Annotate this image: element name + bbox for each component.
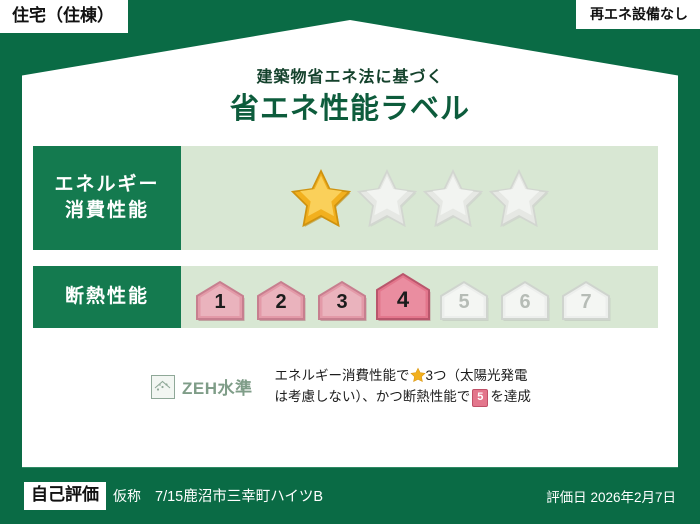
insulation-level-7: 7 xyxy=(557,280,615,322)
label-subtitle: 建築物省エネ法に基づく xyxy=(0,63,700,87)
insulation-level-badge: 5 xyxy=(472,389,488,407)
energy-performance-row: エネルギー 消費性能 xyxy=(33,146,658,250)
insulation-level-4: 4 xyxy=(374,272,432,322)
provisional-name-label: 仮称 xyxy=(113,486,141,506)
note-text-line2-part2: を達成 xyxy=(490,389,531,404)
house-shape-icon xyxy=(500,280,550,322)
property-name: 7/15鹿沼市三幸町ハイツB xyxy=(155,485,323,506)
label-title: 省エネ性能ラベル xyxy=(0,85,700,127)
house-shape-icon xyxy=(256,280,306,322)
insulation-performance-scale-area: 1234567 xyxy=(181,266,658,328)
zeh-label: ZEH水準 xyxy=(182,374,253,399)
zeh-criteria-note: エネルギー消費性能で3つ（太陽光発電は考慮しない）、かつ断熱性能で5を達成 xyxy=(275,366,531,408)
star-rating xyxy=(290,168,550,228)
evaluation-date: 評価日 2026年2月7日 xyxy=(546,486,676,506)
star-filled-icon xyxy=(290,168,352,228)
house-shape-icon xyxy=(195,280,245,322)
energy-performance-label: 住宅（住棟） 再エネ設備なし 建築物省エネ法に基づく 省エネ性能ラベル エネルギ… xyxy=(0,0,700,524)
insulation-label-text: 断熱性能 xyxy=(65,286,149,309)
zeh-standard-block: ZEH水準 xyxy=(151,374,253,399)
footer-left-group: 自己評価 仮称 7/15鹿沼市三幸町ハイツB xyxy=(24,482,323,509)
note-text-part2: 3つ（太陽光発電 xyxy=(426,368,528,383)
house-shape-icon xyxy=(561,280,611,322)
insulation-level-6: 6 xyxy=(496,280,554,322)
zeh-note-area: ZEH水準 エネルギー消費性能で3つ（太陽光発電は考慮しない）、かつ断熱性能で5… xyxy=(33,362,658,424)
renewable-energy-tag: 再エネ設備なし xyxy=(576,0,700,29)
star-empty-icon xyxy=(488,168,550,228)
star-icon xyxy=(410,367,426,383)
insulation-performance-row: 断熱性能 1234567 xyxy=(33,266,658,328)
house-shape-icon xyxy=(439,280,489,322)
house-shape-icon xyxy=(317,280,367,322)
zeh-house-icon xyxy=(151,375,175,399)
energy-performance-label-box: エネルギー 消費性能 xyxy=(33,146,181,250)
energy-label-line2: 消費性能 xyxy=(65,198,149,224)
insulation-level-2: 2 xyxy=(252,280,310,322)
note-text-line2-part1: は考慮しない）、かつ断熱性能で xyxy=(275,389,471,404)
star-empty-icon xyxy=(422,168,484,228)
insulation-performance-label-box: 断熱性能 xyxy=(33,266,181,328)
building-type-tag: 住宅（住棟） xyxy=(0,0,128,33)
self-evaluation-badge: 自己評価 xyxy=(24,482,106,509)
star-empty-icon xyxy=(356,168,418,228)
label-footer: 自己評価 仮称 7/15鹿沼市三幸町ハイツB 評価日 2026年2月7日 xyxy=(0,468,700,524)
energy-performance-stars-area xyxy=(181,146,658,250)
energy-label-line1: エネルギー xyxy=(54,172,159,198)
note-text-part1: エネルギー消費性能で xyxy=(275,368,410,383)
insulation-level-1: 1 xyxy=(191,280,249,322)
insulation-level-3: 3 xyxy=(313,280,371,322)
insulation-level-scale: 1234567 xyxy=(191,272,615,322)
insulation-level-5: 5 xyxy=(435,280,493,322)
house-shape-icon xyxy=(375,272,431,322)
